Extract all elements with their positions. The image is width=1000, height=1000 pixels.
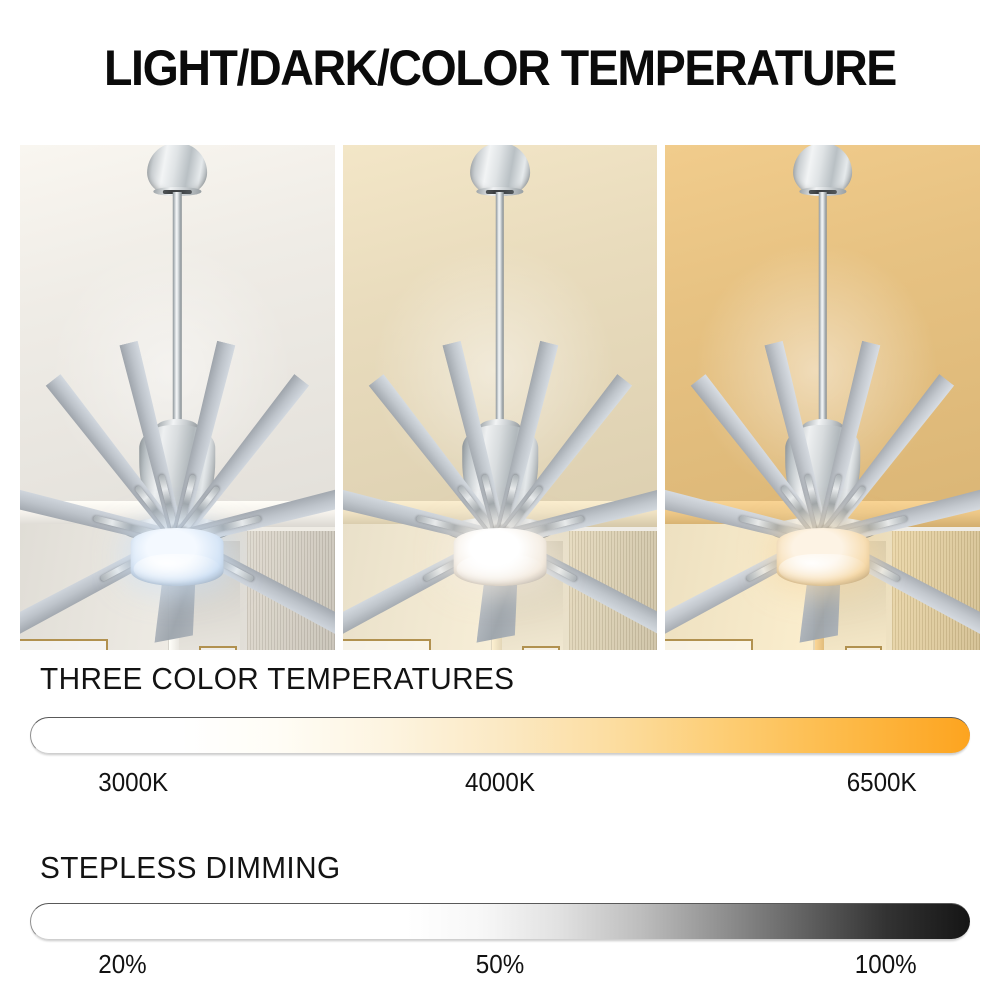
led-light-fixture: [454, 528, 547, 586]
color-temperature-heading: THREE COLOR TEMPERATURES: [40, 662, 514, 696]
gallery-panel-neutral-white[interactable]: [343, 145, 658, 650]
gallery-panel-cool-white[interactable]: [20, 145, 335, 650]
ct-tick-left: 3000K: [98, 768, 168, 796]
page-title: LIGHT/DARK/COLOR TEMPERATURE: [35, 40, 965, 96]
dimming-heading: STEPLESS DIMMING: [40, 851, 340, 885]
fan-downrod: [818, 192, 826, 434]
fan-blade-foreground: [154, 582, 197, 643]
led-light-fixture: [131, 528, 224, 586]
fan-blade-foreground: [477, 582, 520, 643]
ceiling-fan: [343, 145, 658, 650]
dim-tick-center: 50%: [476, 950, 524, 978]
led-light-fixture: [776, 528, 869, 586]
ceiling-fan: [20, 145, 335, 650]
dimming-gradient-bar[interactable]: [30, 903, 970, 940]
gallery-panel-warm-white[interactable]: [665, 145, 980, 650]
fan-blade-foreground: [800, 582, 843, 643]
fan-downrod: [496, 192, 504, 434]
fan-downrod: [173, 192, 181, 434]
dim-tick-right: 100%: [855, 950, 917, 978]
light-diffuser-dome: [776, 528, 869, 586]
dim-tick-left: 20%: [98, 950, 146, 978]
color-temperature-gradient-bar[interactable]: [30, 717, 970, 754]
ct-tick-center: 4000K: [465, 768, 535, 796]
light-diffuser-dome: [454, 528, 547, 586]
product-image-gallery: [20, 145, 980, 650]
ct-tick-right: 6500K: [847, 768, 917, 796]
ceiling-fan: [665, 145, 980, 650]
light-diffuser-dome: [131, 528, 224, 586]
